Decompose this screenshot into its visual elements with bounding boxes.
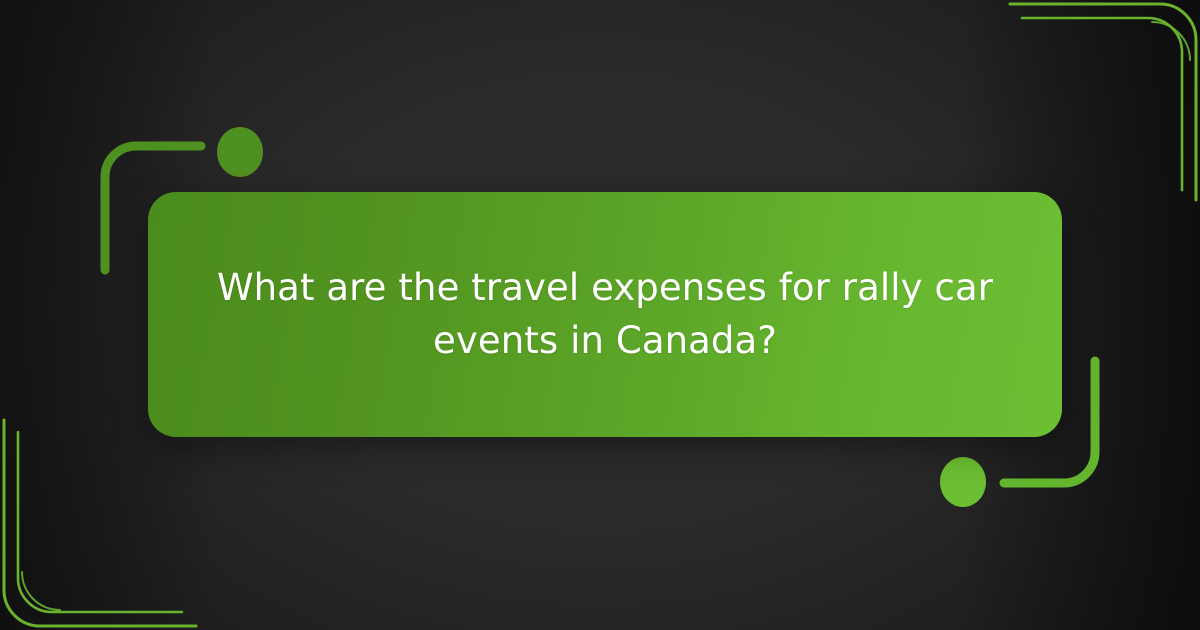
question-card: What are the travel expenses for rally c… [148,192,1062,437]
dot-top-left-icon [217,127,263,177]
share-card-canvas: What are the travel expenses for rally c… [0,0,1200,630]
dot-bottom-right-icon [940,457,986,507]
question-text: What are the travel expenses for rally c… [210,262,1000,367]
